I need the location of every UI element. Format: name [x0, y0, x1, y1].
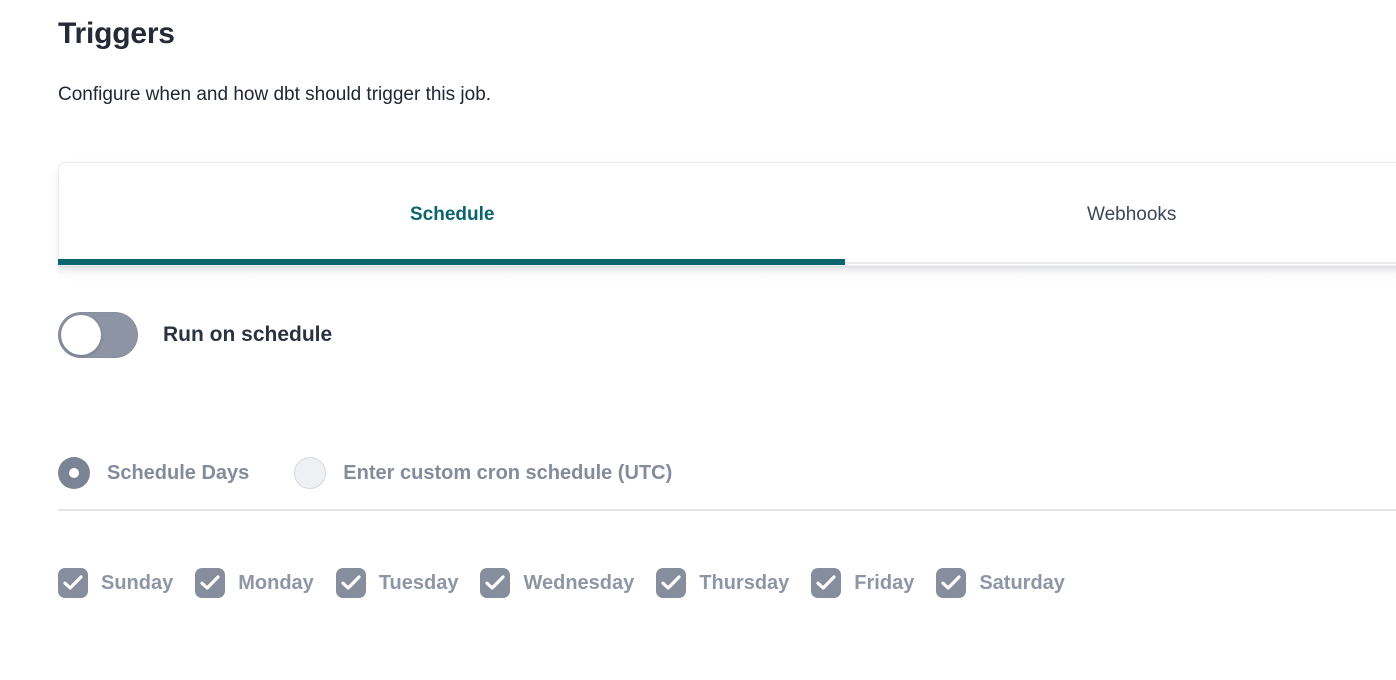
check-icon — [661, 574, 681, 592]
run-on-schedule-label: Run on schedule — [163, 323, 332, 347]
tab-schedule-label: Schedule — [410, 204, 494, 226]
tab-schedule[interactable]: Schedule — [59, 163, 845, 267]
day-option-sunday[interactable]: Sunday — [58, 568, 173, 598]
radio-option-schedule-days[interactable]: Schedule Days — [58, 457, 249, 489]
radio-label-schedule-days: Schedule Days — [107, 462, 249, 485]
checkbox-wednesday[interactable] — [480, 568, 510, 598]
day-label-monday: Monday — [238, 572, 314, 595]
checkbox-monday[interactable] — [195, 568, 225, 598]
tab-webhooks[interactable]: Webhooks — [845, 163, 1396, 267]
check-icon — [200, 574, 220, 592]
day-label-saturday: Saturday — [979, 572, 1065, 595]
tab-active-indicator — [58, 259, 845, 265]
radio-label-custom-cron: Enter custom cron schedule (UTC) — [343, 462, 672, 485]
tab-strip: Schedule Webhooks — [59, 163, 1396, 267]
tab-webhooks-label: Webhooks — [1087, 204, 1176, 226]
run-on-schedule-toggle[interactable] — [58, 312, 138, 358]
day-option-wednesday[interactable]: Wednesday — [480, 568, 634, 598]
check-icon — [485, 574, 505, 592]
toggle-knob-icon — [61, 315, 101, 355]
check-icon — [816, 574, 836, 592]
day-label-thursday: Thursday — [699, 572, 789, 595]
day-option-saturday[interactable]: Saturday — [936, 568, 1065, 598]
day-option-thursday[interactable]: Thursday — [656, 568, 789, 598]
day-label-friday: Friday — [854, 572, 914, 595]
check-icon — [341, 574, 361, 592]
day-option-monday[interactable]: Monday — [195, 568, 314, 598]
check-icon — [63, 574, 83, 592]
checkbox-saturday[interactable] — [936, 568, 966, 598]
radio-circle-icon-custom-cron[interactable] — [294, 457, 326, 489]
triggers-page: Triggers Configure when and how dbt shou… — [0, 0, 1396, 680]
triggers-tab-card: Schedule Webhooks — [58, 162, 1396, 266]
checkbox-friday[interactable] — [811, 568, 841, 598]
day-label-wednesday: Wednesday — [523, 572, 634, 595]
page-title: Triggers — [58, 14, 175, 54]
day-label-tuesday: Tuesday — [379, 572, 459, 595]
day-option-friday[interactable]: Friday — [811, 568, 914, 598]
radio-option-custom-cron[interactable]: Enter custom cron schedule (UTC) — [294, 457, 672, 489]
page-subtitle: Configure when and how dbt should trigge… — [58, 81, 491, 109]
check-icon — [941, 574, 961, 592]
day-label-sunday: Sunday — [101, 572, 173, 595]
day-option-tuesday[interactable]: Tuesday — [336, 568, 459, 598]
checkbox-thursday[interactable] — [656, 568, 686, 598]
checkbox-tuesday[interactable] — [336, 568, 366, 598]
checkbox-sunday[interactable] — [58, 568, 88, 598]
schedule-days-row: Sunday Monday Tuesday — [58, 568, 1087, 598]
run-on-schedule-row: Run on schedule — [58, 312, 332, 358]
section-divider — [58, 509, 1396, 511]
radio-dot-icon-schedule-days[interactable] — [58, 457, 90, 489]
schedule-mode-radio-group: Schedule Days Enter custom cron schedule… — [58, 457, 672, 489]
